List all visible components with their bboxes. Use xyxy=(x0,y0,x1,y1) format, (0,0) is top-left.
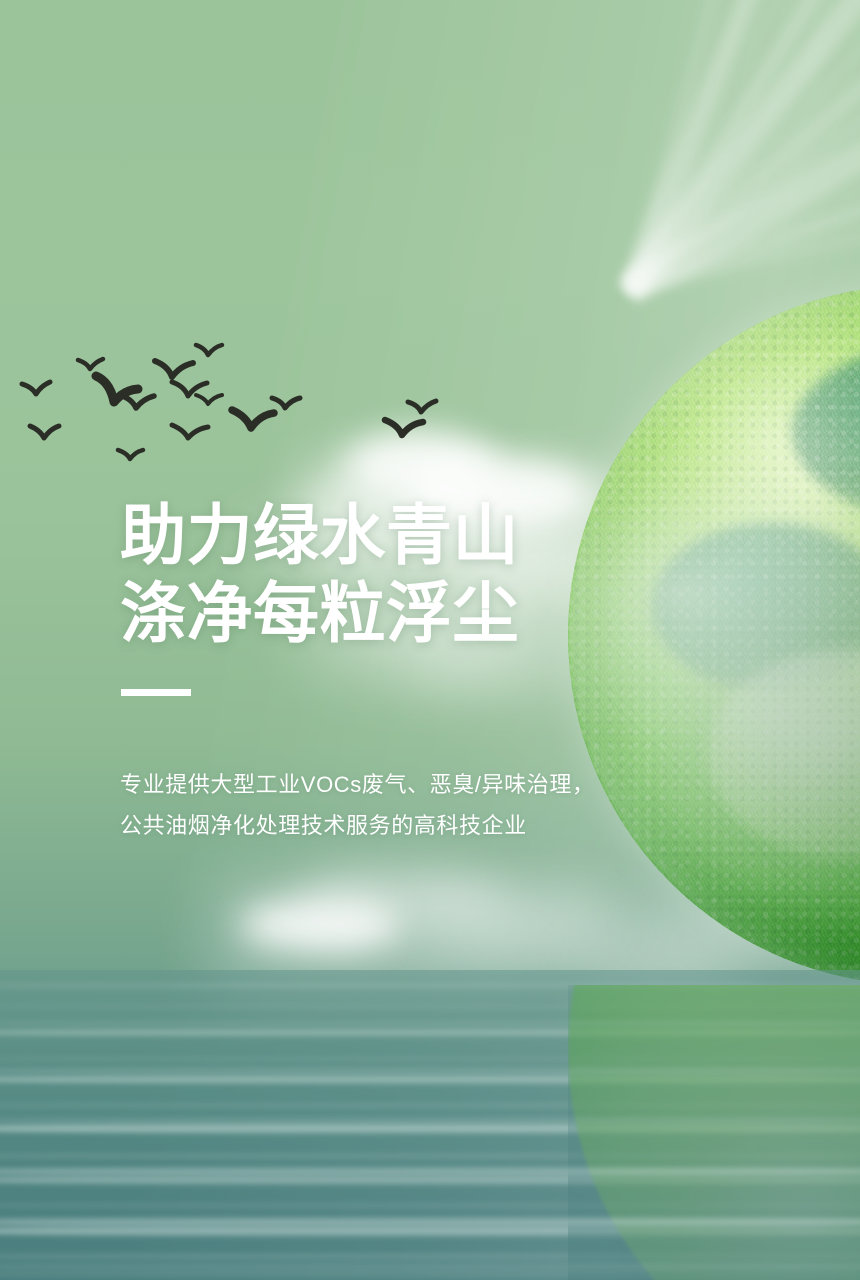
bird-icon xyxy=(30,426,59,438)
subtitle-line-2: 公共油烟净化处理技术服务的高科技企业 xyxy=(120,806,595,847)
hero-banner: 助力绿水青山 涤净每粒浮尘 专业提供大型工业VOCs废气、恶臭/异味治理， 公共… xyxy=(0,0,860,1280)
bird-icon xyxy=(22,382,50,394)
subtitle-line-1: 专业提供大型工业VOCs废气、恶臭/异味治理， xyxy=(120,765,595,806)
headline-line-2: 涤净每粒浮尘 xyxy=(120,575,519,653)
title-divider xyxy=(121,689,191,696)
bird-icon xyxy=(78,359,103,369)
banner-content: 助力绿水青山 涤净每粒浮尘 专业提供大型工业VOCs废气、恶臭/异味治理， 公共… xyxy=(120,0,740,1280)
page-subtitle: 专业提供大型工业VOCs废气、恶臭/异味治理， 公共油烟净化处理技术服务的高科技… xyxy=(120,765,595,846)
page-title: 助力绿水青山 涤净每粒浮尘 xyxy=(120,497,519,653)
headline-line-1: 助力绿水青山 xyxy=(120,497,519,575)
